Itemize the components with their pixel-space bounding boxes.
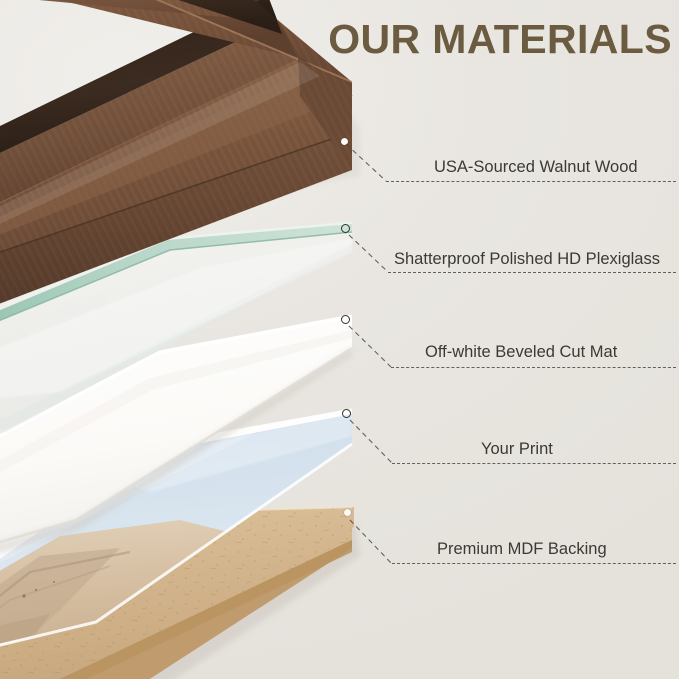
product-materials-infographic: OUR MATERIALS USA-Sourced Walnut Wood Sh… bbox=[0, 0, 679, 679]
page-title: OUR MATERIALS bbox=[328, 19, 672, 60]
callout-leader-your-print bbox=[330, 406, 410, 478]
callout-label-beveled-mat: Off-white Beveled Cut Mat bbox=[425, 343, 617, 362]
callout-label-walnut-wood: USA-Sourced Walnut Wood bbox=[434, 158, 638, 177]
callout-label-mdf-backing: Premium MDF Backing bbox=[437, 540, 607, 559]
callout-rule-walnut-wood bbox=[386, 181, 676, 182]
callout-rule-beveled-mat bbox=[391, 367, 676, 368]
callout-leader-beveled-mat bbox=[330, 312, 410, 382]
callout-rule-plexiglass bbox=[388, 272, 676, 273]
callout-rule-mdf-backing bbox=[392, 563, 676, 564]
callout-label-plexiglass: Shatterproof Polished HD Plexiglass bbox=[394, 250, 660, 269]
callout-rule-your-print bbox=[392, 463, 676, 464]
callout-leader-mdf-backing bbox=[330, 506, 410, 578]
callout-label-your-print: Your Print bbox=[481, 440, 553, 459]
